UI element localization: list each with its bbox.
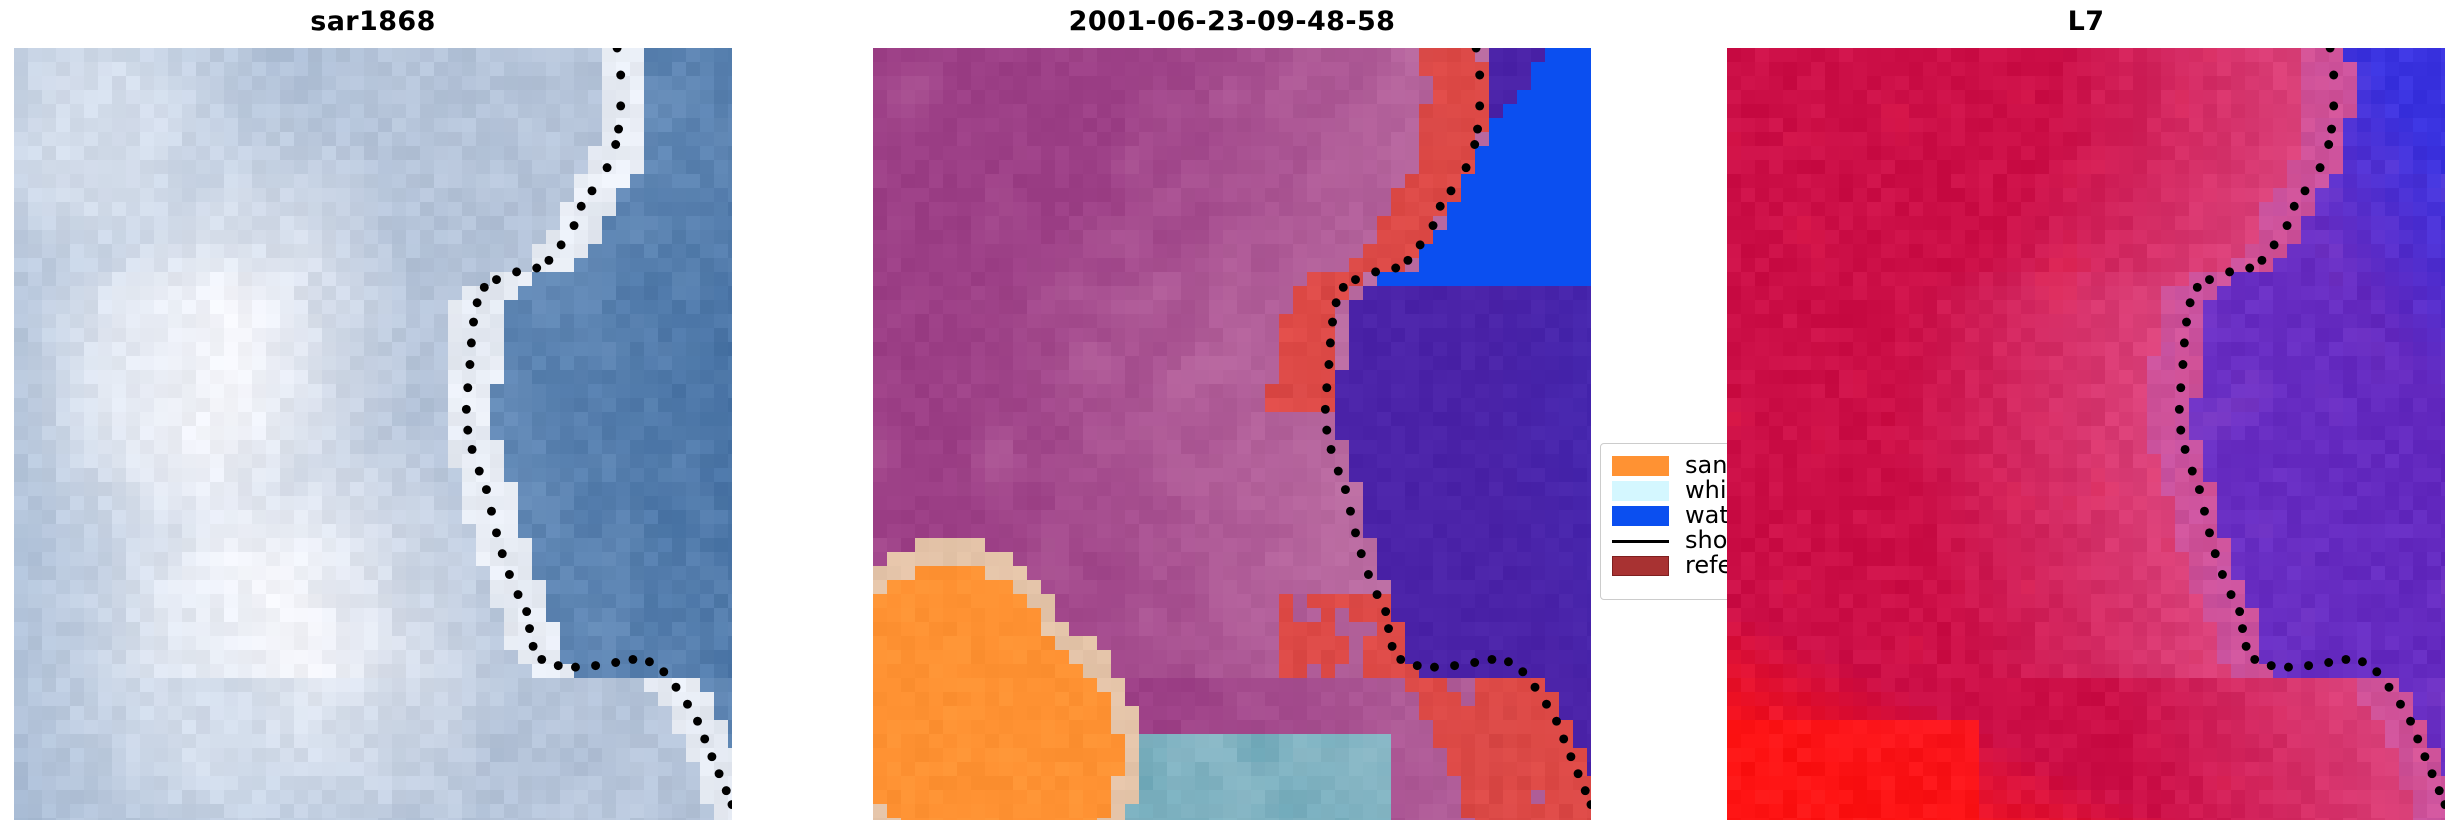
classified-image [873,48,1591,820]
panel-title-classified: 2001-06-23-09-48-58 [873,2,1591,42]
figure-canvas: sar1868 2001-06-23-09-48-58 sand whitewa… [0,0,2460,838]
l7-image [1727,48,2445,820]
panel-title-sar: sar1868 [14,2,732,42]
panel-title-l7: L7 [1727,2,2445,42]
shoreline-overlay-classified [873,48,1591,820]
panel-classified[interactable] [873,48,1591,820]
legend-swatch-water [1612,506,1669,526]
panel-sar[interactable] [14,48,732,820]
shoreline-overlay-sar [14,48,732,820]
legend-line-shoreline [1612,531,1669,551]
panel-l7[interactable] [1727,48,2445,820]
legend-swatch-reference [1612,556,1669,576]
legend-swatch-whitewater [1612,481,1669,501]
sar-image [14,48,732,820]
legend-swatch-sand [1612,456,1669,476]
shoreline-overlay-l7 [1727,48,2445,820]
